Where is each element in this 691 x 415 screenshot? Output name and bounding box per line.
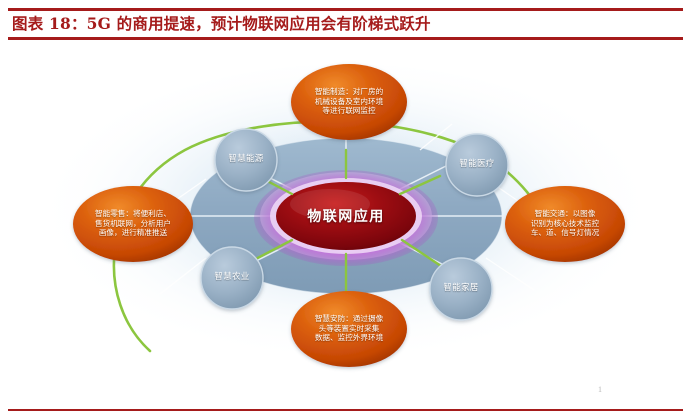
node-circle-agriculture[interactable] — [201, 247, 263, 309]
bubble-retail[interactable] — [73, 186, 193, 262]
node-circle-energy[interactable] — [215, 129, 277, 191]
bubble-manufacturing[interactable] — [291, 64, 407, 140]
page-canvas: 图表 18：5G 的商用提速，预计物联网应用会有阶梯式跃升 — [0, 0, 691, 415]
page-title: 图表 18：5G 的商用提速，预计物联网应用会有阶梯式跃升 — [8, 11, 683, 37]
node-circle-healthcare[interactable] — [446, 134, 508, 196]
node-circle-smart-home[interactable] — [430, 258, 492, 320]
bubble-transportation[interactable] — [505, 186, 625, 262]
iot-application-diagram: 物联网应用 智慧能源 智能医疗 智慧农业 智能家居 智能制造：对厂房的 机械设备… — [0, 46, 691, 394]
center-hub — [254, 170, 438, 266]
title-rule-bottom — [8, 37, 683, 40]
page-number: 1 — [598, 385, 602, 394]
diagram-svg — [0, 46, 691, 394]
bubble-security[interactable] — [291, 291, 407, 367]
bottom-rule — [8, 409, 683, 412]
figure-title-block: 图表 18：5G 的商用提速，预计物联网应用会有阶梯式跃升 — [8, 8, 683, 40]
